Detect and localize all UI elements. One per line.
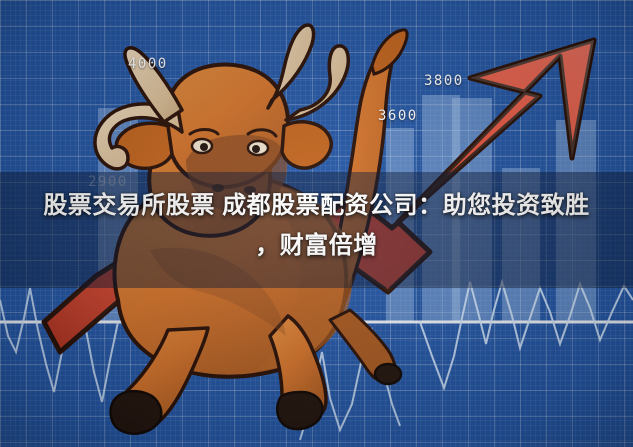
- banner-image: 4000380036002900 股票交易所股票 成都股票配资公司：助您投资致胜…: [0, 0, 633, 447]
- vignette-overlay: [0, 0, 633, 447]
